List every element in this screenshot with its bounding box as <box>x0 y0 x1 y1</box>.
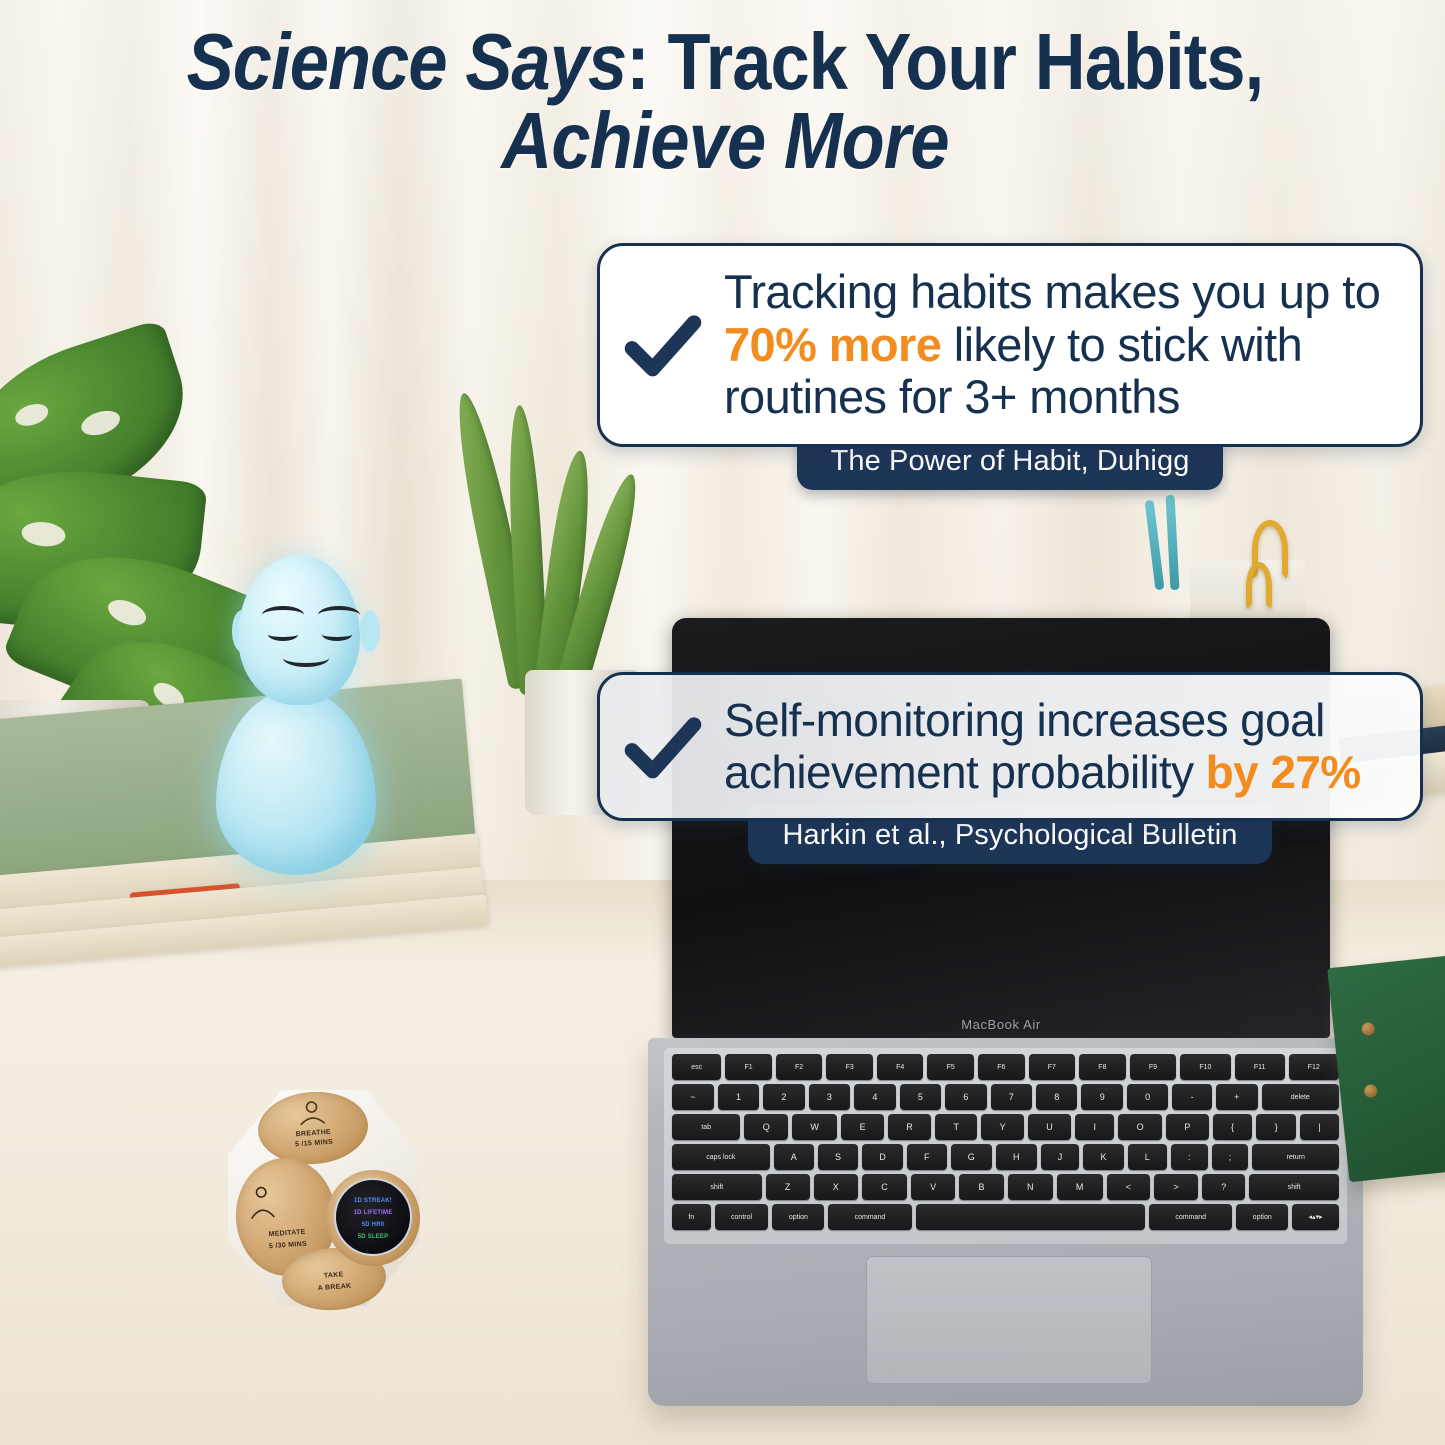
headline-line-2: Achieve More <box>501 96 948 185</box>
key-period[interactable]: > <box>1154 1174 1198 1200</box>
key-m[interactable]: M <box>1057 1174 1103 1200</box>
key-f5[interactable]: F5 <box>927 1054 974 1080</box>
key-a[interactable]: A <box>774 1144 814 1170</box>
keyboard-row-numbers[interactable]: ~ 1 2 3 4 5 6 7 8 9 0 - + delete <box>669 1084 1342 1110</box>
key-0[interactable]: 0 <box>1127 1084 1168 1110</box>
key-f8[interactable]: F8 <box>1079 1054 1126 1080</box>
key-y[interactable]: Y <box>981 1114 1024 1140</box>
key-x[interactable]: X <box>814 1174 858 1200</box>
key-f12[interactable]: F12 <box>1289 1054 1339 1080</box>
key-v[interactable]: V <box>911 1174 955 1200</box>
key-d[interactable]: D <box>862 1144 903 1170</box>
key-arrow-keys[interactable]: ◂▴▾▸ <box>1292 1204 1339 1230</box>
dice-stat-sleep: 5D SLEEP <box>336 1234 410 1240</box>
key-u[interactable]: U <box>1028 1114 1071 1140</box>
key-h[interactable]: H <box>996 1144 1037 1170</box>
key-g[interactable]: G <box>951 1144 992 1170</box>
fact-1-text-before: Tracking habits makes you up to <box>724 265 1380 318</box>
dice-stat-hr0: 5D HR0 <box>336 1222 410 1228</box>
key-n[interactable]: N <box>1008 1174 1053 1200</box>
key-9[interactable]: 9 <box>1081 1084 1122 1110</box>
key-o[interactable]: O <box>1118 1114 1162 1140</box>
key-delete[interactable]: delete <box>1262 1084 1339 1110</box>
laptop-base: esc F1 F2 F3 F4 F5 F6 F7 F8 F9 F10 F11 F… <box>648 1038 1363 1406</box>
check-icon <box>620 704 706 790</box>
key-p[interactable]: P <box>1166 1114 1209 1140</box>
key-l[interactable]: L <box>1128 1144 1167 1170</box>
page-title: Science Says: Track Your Habits, Achieve… <box>140 22 1310 180</box>
key-f1[interactable]: F1 <box>725 1054 772 1080</box>
key-6[interactable]: 6 <box>945 1084 986 1110</box>
key-k[interactable]: K <box>1083 1144 1123 1170</box>
key-1[interactable]: 1 <box>718 1084 759 1110</box>
key-minus[interactable]: - <box>1172 1084 1211 1110</box>
key-shift-right[interactable]: shift <box>1249 1174 1339 1200</box>
key-7[interactable]: 7 <box>991 1084 1032 1110</box>
fact-card-1-body: Tracking habits makes you up to 70% more… <box>597 243 1423 447</box>
key-t[interactable]: T <box>935 1114 977 1140</box>
key-backslash[interactable]: | <box>1300 1114 1339 1140</box>
key-w[interactable]: W <box>792 1114 837 1140</box>
key-f6[interactable]: F6 <box>978 1054 1025 1080</box>
headline-line-1-rest: : Track Your Habits, <box>626 17 1263 106</box>
key-c[interactable]: C <box>862 1174 907 1200</box>
key-8[interactable]: 8 <box>1036 1084 1077 1110</box>
key-b[interactable]: B <box>959 1174 1003 1200</box>
key-f[interactable]: F <box>907 1144 947 1170</box>
fact-card-2-text: Self-monitoring increases goal achieveme… <box>724 695 1394 798</box>
fact-card-2-body: Self-monitoring increases goal achieveme… <box>597 672 1423 821</box>
keyboard-row-zxcv[interactable]: shift Z X C V B N M < > ? shift <box>669 1174 1342 1200</box>
key-bracket-right[interactable]: } <box>1256 1114 1296 1140</box>
key-tilde[interactable]: ~ <box>672 1084 714 1110</box>
key-shift-left[interactable]: shift <box>672 1174 762 1200</box>
key-caps-lock[interactable]: caps lock <box>672 1144 770 1170</box>
fact-card-2: Self-monitoring increases goal achieveme… <box>597 672 1423 864</box>
keyboard-row-function[interactable]: esc F1 F2 F3 F4 F5 F6 F7 F8 F9 F10 F11 F… <box>669 1054 1342 1080</box>
key-e[interactable]: E <box>841 1114 884 1140</box>
key-4[interactable]: 4 <box>854 1084 895 1110</box>
laptop-trackpad[interactable] <box>866 1256 1152 1384</box>
key-spacebar[interactable] <box>916 1204 1146 1230</box>
laptop-model-label: MacBook Air <box>672 1017 1330 1032</box>
key-slash[interactable]: ? <box>1202 1174 1245 1200</box>
fact-card-1: Tracking habits makes you up to 70% more… <box>597 243 1423 490</box>
fact-2-highlight: by 27% <box>1206 746 1361 798</box>
dice-label-meditate-title: MEDITATE <box>237 1226 337 1240</box>
keyboard-row-asdf[interactable]: caps lock A S D F G H J K L : ; return <box>669 1144 1342 1170</box>
fact-1-highlight: 70% more <box>724 318 941 371</box>
dice-face-display-ring: 1D STREAK! 1D LIFETIME 5D HR0 5D SLEEP <box>326 1170 420 1266</box>
key-semicolon[interactable]: : <box>1171 1144 1208 1170</box>
key-2[interactable]: 2 <box>763 1084 804 1110</box>
key-return[interactable]: return <box>1252 1144 1339 1170</box>
key-command-right[interactable]: command <box>1149 1204 1232 1230</box>
key-f11[interactable]: F11 <box>1235 1054 1285 1080</box>
keyboard-row-qwerty[interactable]: tab Q W E R T Y U I O P { } | <box>669 1114 1342 1140</box>
headline-line-1: Science Says: Track Your Habits, <box>187 17 1264 106</box>
key-z[interactable]: Z <box>766 1174 810 1200</box>
key-f2[interactable]: F2 <box>776 1054 823 1080</box>
headline-emphasis: Science Says <box>187 17 627 106</box>
key-3[interactable]: 3 <box>809 1084 850 1110</box>
dice-stat-streak: 1D STREAK! <box>336 1198 410 1204</box>
gold-clip-icon <box>1246 562 1272 610</box>
key-q[interactable]: Q <box>744 1114 788 1140</box>
dice-label-break-sub: A BREAK <box>282 1280 386 1294</box>
poster-canvas: BREATHE 5 /15 MINS MEDITATE 5 /30 MINS T… <box>0 0 1445 1445</box>
key-esc[interactable]: esc <box>672 1054 721 1080</box>
key-fn[interactable]: fn <box>672 1204 711 1230</box>
dice-display-screen: 1D STREAK! 1D LIFETIME 5D HR0 5D SLEEP <box>334 1178 412 1256</box>
check-icon <box>620 302 706 388</box>
key-comma[interactable]: < <box>1107 1174 1151 1200</box>
key-f10[interactable]: F10 <box>1180 1054 1230 1080</box>
key-5[interactable]: 5 <box>900 1084 941 1110</box>
dice-stat-lifetime: 1D LIFETIME <box>336 1210 410 1216</box>
key-command-left[interactable]: command <box>828 1204 911 1230</box>
key-r[interactable]: R <box>888 1114 931 1140</box>
laptop-keyboard[interactable]: esc F1 F2 F3 F4 F5 F6 F7 F8 F9 F10 F11 F… <box>664 1048 1347 1244</box>
fact-card-1-text: Tracking habits makes you up to 70% more… <box>724 266 1394 424</box>
key-bracket-left[interactable]: { <box>1213 1114 1253 1140</box>
key-control[interactable]: control <box>715 1204 769 1230</box>
key-f4[interactable]: F4 <box>877 1054 924 1080</box>
key-j[interactable]: J <box>1041 1144 1080 1170</box>
key-option-left[interactable]: option <box>772 1204 824 1230</box>
key-f3[interactable]: F3 <box>826 1054 873 1080</box>
key-quote[interactable]: ; <box>1212 1144 1249 1170</box>
key-f9[interactable]: F9 <box>1130 1054 1177 1080</box>
key-option-right[interactable]: option <box>1236 1204 1288 1230</box>
key-i[interactable]: I <box>1075 1114 1114 1140</box>
key-plus[interactable]: + <box>1216 1084 1258 1110</box>
key-tab[interactable]: tab <box>672 1114 740 1140</box>
key-f7[interactable]: F7 <box>1029 1054 1076 1080</box>
keyboard-row-modifiers[interactable]: fn control option command command option… <box>669 1204 1342 1230</box>
key-s[interactable]: S <box>818 1144 858 1170</box>
